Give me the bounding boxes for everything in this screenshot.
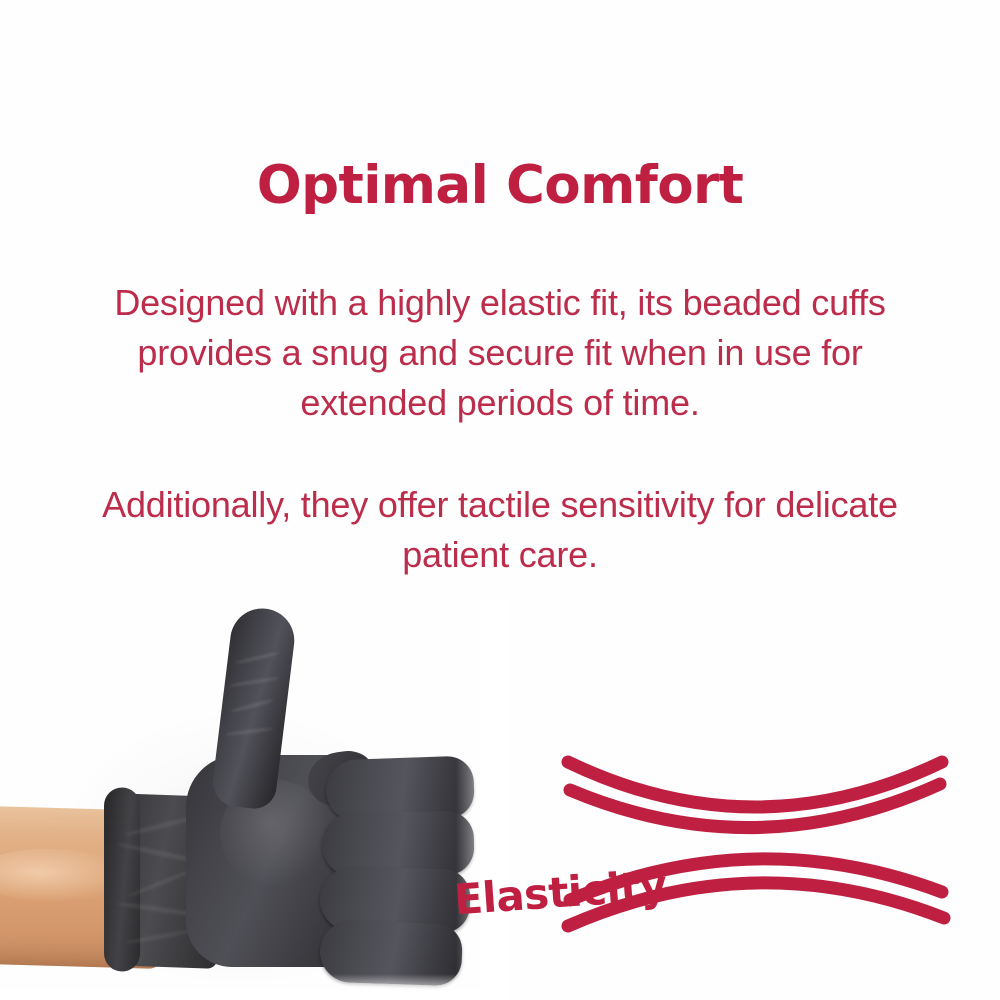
- photo-edge-fade: [456, 600, 510, 1000]
- elasticity-stretch-arcs-icon: [550, 740, 960, 940]
- page-title: Optimal Comfort: [0, 158, 1000, 214]
- arc-bottom-outer: [568, 883, 944, 926]
- paragraph-spacer: [60, 428, 940, 480]
- elasticity-badge: [550, 740, 960, 940]
- cuff-bead: [104, 788, 140, 972]
- body-paragraph-1: Designed with a highly elastic fit, its …: [60, 278, 940, 428]
- body-copy: Designed with a highly elastic fit, its …: [60, 278, 940, 580]
- glove-photo: [0, 600, 510, 1000]
- thumb-wrinkle: [225, 727, 273, 737]
- photo-edge-fade: [0, 974, 510, 1000]
- body-paragraph-2: Additionally, they offer tactile sensiti…: [60, 480, 940, 580]
- thumb-wrinkle: [234, 651, 280, 665]
- promo-slide: Optimal Comfort Designed with a highly e…: [0, 0, 1000, 1000]
- thumb-wrinkle: [230, 698, 274, 713]
- thumb-wrinkle: [229, 676, 279, 688]
